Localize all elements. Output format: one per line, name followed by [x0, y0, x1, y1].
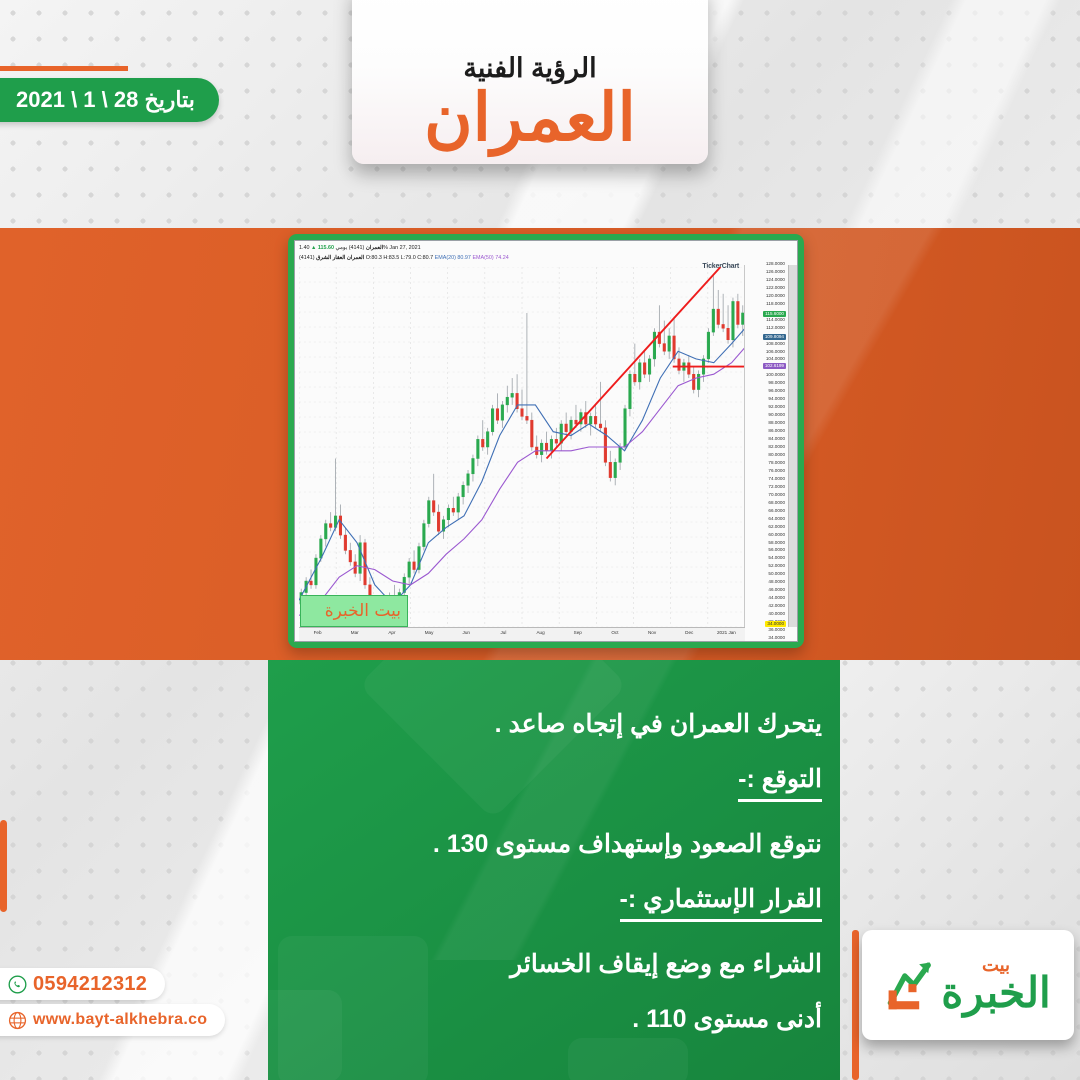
date-rule: [0, 66, 128, 71]
ohlc-close: C:80.7: [417, 255, 433, 261]
logo-word-khebra: الخبرة: [941, 974, 1050, 1013]
price-tick: 84.0000: [768, 437, 785, 442]
price-tick: 90.0000: [768, 413, 785, 418]
ticker-code: (4141): [349, 245, 365, 251]
ticker-interval: يومي: [336, 245, 348, 251]
price-tick: 70.0000: [768, 493, 785, 498]
ticker-change-arrow-icon: ▲: [311, 245, 316, 251]
price-tick: 102.6199: [763, 363, 786, 369]
price-tick: 98.0000: [768, 381, 785, 386]
price-tick: 46.0000: [768, 588, 785, 593]
page-title: العمران: [424, 84, 636, 150]
price-tick: 86.0000: [768, 429, 785, 434]
price-tick: 36.0000: [768, 628, 785, 633]
price-tick: 42.0000: [768, 604, 785, 609]
price-tick: 72.0000: [768, 485, 785, 490]
logo-accent-bar: [852, 930, 859, 1080]
price-tick: 88.0000: [768, 421, 785, 426]
date-tick: 2021 Jan: [717, 630, 736, 635]
price-tick: 96.0000: [768, 389, 785, 394]
analysis-panel: يتحرك العمران في إتجاه صاعد .التوقع :-نت…: [268, 660, 840, 1080]
brand-logo-text: بيت الخبرة: [941, 957, 1050, 1012]
analysis-heading-3: القرار الإستثماري :-: [620, 887, 823, 922]
date-tick: Oct: [611, 630, 618, 635]
price-tick: 112.0000: [766, 326, 785, 331]
price-tick: 58.0000: [768, 541, 785, 546]
price-tick: 92.0000: [768, 405, 785, 410]
brand-logo-card[interactable]: بيت الخبرة: [862, 930, 1074, 1040]
ticker-code-2: (4141): [299, 255, 315, 261]
date-tick: Sep: [574, 630, 582, 635]
ema50-value: EMA(50) 74.24: [472, 255, 508, 261]
price-tick: 50.0000: [768, 572, 785, 577]
price-tick: 60.0000: [768, 533, 785, 538]
price-tick: 74.0000: [768, 477, 785, 482]
ticker-date: Jan 27, 2021: [389, 245, 420, 251]
chart-plot-area[interactable]: [299, 267, 745, 627]
price-tick: 118.0000: [766, 302, 785, 307]
ticker-header-row-1: العمران (4141) يومي 115.60 ▲ 1.40% Jan 2…: [299, 245, 421, 251]
candlestick-svg: [299, 267, 745, 627]
page-subtitle: الرؤية الفنية: [463, 55, 596, 82]
price-tick: 122.0000: [766, 286, 785, 291]
date-tick: Jul: [500, 630, 506, 635]
title-card: الرؤية الفنية العمران: [352, 0, 708, 164]
price-tick: 94.0000: [768, 397, 785, 402]
whatsapp-icon: [8, 975, 27, 994]
current-price-label: 34.0000: [765, 621, 786, 627]
price-tick: 109.8094: [763, 334, 786, 340]
price-tick: 56.0000: [768, 548, 785, 553]
ticker-name-ar: العمران العقار الشرق: [316, 255, 364, 261]
date-tick: May: [425, 630, 434, 635]
price-tick: 128.0000: [766, 262, 785, 267]
price-tick: 40.0000: [768, 612, 785, 617]
analysis-text-block: يتحرك العمران في إتجاه صاعد .التوقع :-نت…: [286, 712, 822, 1062]
left-accent-bar: [0, 820, 7, 912]
analysis-line-0: يتحرك العمران في إتجاه صاعد .: [286, 712, 822, 737]
chart-scrollbar[interactable]: [788, 265, 797, 627]
date-badge: بتاريخ 28 \ 1 \ 2021: [0, 78, 219, 122]
price-tick: 104.0000: [766, 357, 785, 362]
price-tick: 80.0000: [768, 453, 785, 458]
price-tick: 76.0000: [768, 469, 785, 474]
globe-icon: [8, 1011, 27, 1030]
date-tick: Nov: [648, 630, 656, 635]
ohlc-low: L:79.0: [401, 255, 416, 261]
ema20-value: EMA(20) 80.97: [435, 255, 471, 261]
ohlc-high: H:83.5: [383, 255, 399, 261]
ticker-last-price: 115.60: [318, 245, 334, 251]
growth-arrow-icon: [885, 956, 939, 1014]
infographic-root: الرؤية الفنية العمران بتاريخ 28 \ 1 \ 20…: [0, 0, 1080, 1080]
ohlc-open: O:80.3: [366, 255, 382, 261]
price-tick: 78.0000: [768, 461, 785, 466]
date-badge-label: بتاريخ 28 \ 1 \ 2021: [16, 87, 195, 113]
date-axis: FebMarAprMayJunJulAugSepOctNovDec2021 Ja…: [299, 627, 745, 641]
price-tick: 64.0000: [768, 517, 785, 522]
price-tick: 124.0000: [766, 278, 785, 283]
price-tick: 100.0000: [766, 373, 785, 378]
price-tick: 108.0000: [766, 342, 785, 347]
ticker-symbol-ar: العمران: [366, 245, 383, 251]
contact-whatsapp[interactable]: 0594212312: [0, 968, 165, 1000]
price-tick: 52.0000: [768, 564, 785, 569]
price-axis: 128.0000126.0000124.0000122.0000120.0000…: [744, 265, 787, 627]
date-tick: Mar: [351, 630, 359, 635]
price-tick: 82.0000: [768, 445, 785, 450]
website-url: www.bayt-alkhebra.co: [33, 1011, 207, 1029]
price-tick: 120.0000: [766, 294, 785, 299]
price-tick: 54.0000: [768, 556, 785, 561]
analysis-heading-1: التوقع :-: [738, 767, 822, 802]
analysis-line-4: الشراء مع وضع إيقاف الخسائر: [286, 952, 822, 977]
date-tick: Aug: [536, 630, 544, 635]
whatsapp-number: 0594212312: [33, 973, 147, 996]
chart-canvas[interactable]: العمران (4141) يومي 115.60 ▲ 1.40% Jan 2…: [294, 240, 798, 642]
date-tick: Feb: [314, 630, 322, 635]
analysis-line-1: التوقع :-: [286, 767, 822, 802]
price-tick: 34.0000: [768, 636, 785, 641]
chart-frame: العمران (4141) يومي 115.60 ▲ 1.40% Jan 2…: [288, 234, 804, 648]
price-tick: 68.0000: [768, 501, 785, 506]
price-tick: 114.0000: [766, 318, 785, 323]
price-tick: 48.0000: [768, 580, 785, 585]
analysis-line-3: القرار الإستثماري :-: [286, 887, 822, 922]
price-tick: 106.0000: [766, 350, 785, 355]
date-tick: Jun: [463, 630, 470, 635]
analysis-line-5: أدنى مستوى 110 .: [286, 1007, 822, 1032]
price-tick: 44.0000: [768, 596, 785, 601]
contact-website[interactable]: www.bayt-alkhebra.co: [0, 1004, 225, 1036]
date-tick: Apr: [388, 630, 395, 635]
price-tick: 62.0000: [768, 525, 785, 530]
chart-watermark: بيت الخبرة: [300, 595, 408, 627]
ticker-header-row-2: العمران العقار الشرق (4141) O:80.3 H:83.…: [299, 255, 509, 261]
analysis-line-2: نتوقع الصعود وإستهداف مستوى 130 .: [286, 832, 822, 857]
price-tick: 126.0000: [766, 270, 785, 275]
price-tick: 66.0000: [768, 509, 785, 514]
date-tick: Dec: [685, 630, 693, 635]
chart-watermark-label: بيت الخبرة: [325, 601, 401, 621]
